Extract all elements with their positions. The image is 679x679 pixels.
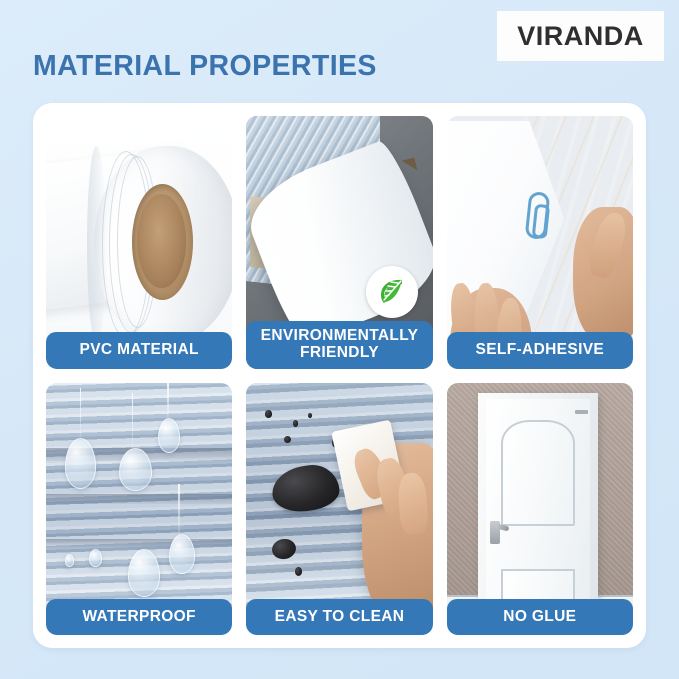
paperclip-icon — [524, 191, 550, 240]
page-title: MATERIAL PROPERTIES — [33, 50, 377, 83]
feature-label-text: NO GLUE — [503, 608, 576, 625]
feature-label-environmentally-friendly: ENVIRONMENTALLY FRIENDLY — [246, 321, 432, 369]
feature-label-text: SELF-ADHESIVE — [476, 341, 605, 358]
feature-label-self-adhesive: SELF-ADHESIVE — [447, 332, 633, 368]
feature-label-waterproof: WATERPROOF — [46, 599, 232, 635]
feature-label-text-line1: ENVIRONMENTALLY — [261, 327, 419, 344]
brand-logo: VIRANDA — [497, 11, 664, 61]
brand-name: VIRANDA — [517, 21, 644, 52]
feature-label-easy-to-clean: EASY TO CLEAN — [246, 599, 432, 635]
feature-label-text: WATERPROOF — [82, 608, 195, 625]
no-glue-door-image — [447, 383, 633, 636]
feature-label-text-line2: FRIENDLY — [261, 344, 419, 361]
feature-tile-self-adhesive[interactable]: SELF-ADHESIVE — [447, 116, 633, 369]
self-adhesive-image — [447, 116, 633, 369]
leaf-icon — [375, 275, 409, 309]
feature-tile-easy-to-clean[interactable]: EASY TO CLEAN — [246, 383, 432, 636]
feature-label-text: EASY TO CLEAN — [275, 608, 405, 625]
pvc-roll-image — [46, 116, 232, 369]
feature-tile-no-glue[interactable]: NO GLUE — [447, 383, 633, 636]
feature-tile-waterproof[interactable]: WATERPROOF — [46, 383, 232, 636]
feature-label-pvc-material: PVC MATERIAL — [46, 332, 232, 368]
feature-label-text: PVC MATERIAL — [80, 341, 199, 358]
feature-tile-pvc-material[interactable]: PVC MATERIAL — [46, 116, 232, 369]
feature-label-no-glue: NO GLUE — [447, 599, 633, 635]
waterproof-image — [46, 383, 232, 636]
leaf-badge — [366, 266, 418, 318]
feature-panel: PVC MATERIAL — [33, 103, 646, 648]
feature-tile-environmentally-friendly[interactable]: ENVIRONMENTALLY FRIENDLY — [246, 116, 432, 369]
feature-grid: PVC MATERIAL — [46, 116, 633, 635]
easy-to-clean-image — [246, 383, 432, 636]
